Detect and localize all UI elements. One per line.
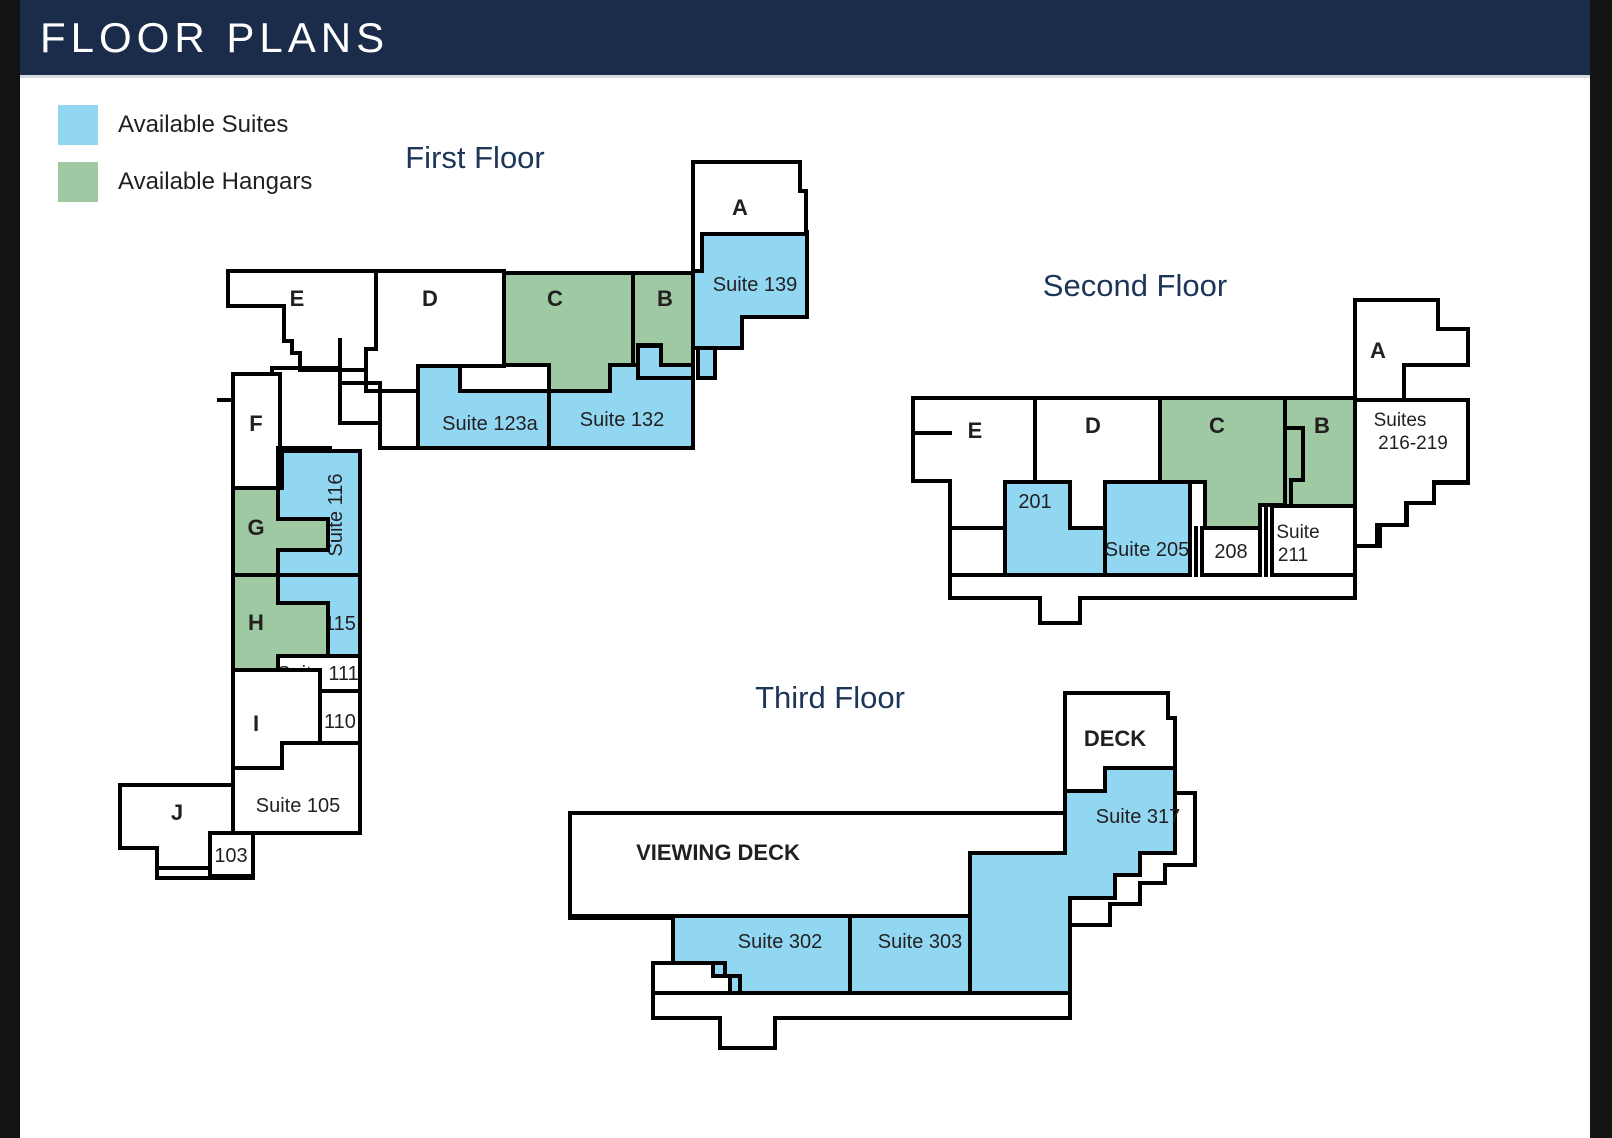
room-label-hangar-f: F <box>249 411 262 436</box>
floor-plans-canvas: First Floor Suite 139 A B C D E <box>20 78 1590 1138</box>
room-label-suite-103: 103 <box>214 845 247 867</box>
room-label-suites-216-219-line2: 216-219 <box>1378 433 1448 454</box>
room-label-suite-139: Suite 139 <box>713 274 798 296</box>
room-label-second-211-line2: 211 <box>1278 545 1308 566</box>
room-label-second-c: C <box>1209 413 1225 438</box>
room-label-deck: DECK <box>1084 726 1146 751</box>
room-label-hangar-d: D <box>422 286 438 311</box>
page-title: FLOOR PLANS <box>40 17 389 59</box>
room-label-suite-317: Suite 317 <box>1096 806 1181 828</box>
floor-plan-third-floor[interactable]: Third Floor DECK Suite 317 VIEWING DECK … <box>570 680 1195 1048</box>
room-label-hangar-a: A <box>732 195 748 220</box>
room-label-second-201: 201 <box>1018 491 1051 513</box>
room-third-floor-suite-317[interactable] <box>970 768 1175 993</box>
room-label-suite-123a: Suite 123a <box>442 413 539 435</box>
first-floor-title: First Floor <box>405 140 545 175</box>
wall-second-bottom <box>950 575 1355 623</box>
room-label-hangar-h: H <box>248 610 264 635</box>
room-label-hangar-i: I <box>253 711 259 736</box>
page-root: FLOOR PLANS Available Suites Available H… <box>20 0 1590 1138</box>
room-label-viewing-deck: VIEWING DECK <box>636 840 800 865</box>
room-label-suite-302: Suite 302 <box>738 931 823 953</box>
room-label-second-a: A <box>1370 338 1386 363</box>
page-header: FLOOR PLANS <box>20 0 1590 78</box>
third-floor-title: Third Floor <box>755 680 905 715</box>
room-label-hangar-c: C <box>547 286 563 311</box>
room-label-second-d: D <box>1085 413 1101 438</box>
room-label-suite-132: Suite 132 <box>580 409 665 431</box>
room-label-suite-110: 110 <box>324 711 356 733</box>
room-first-floor-suite-116-body[interactable] <box>278 451 360 575</box>
room-label-hangar-b: B <box>657 286 673 311</box>
floor-plan-second-floor[interactable]: Second Floor A Suites 216-219 B C D E <box>913 268 1468 623</box>
room-label-second-e: E <box>968 418 983 443</box>
room-label-second-211-line1: Suite <box>1276 522 1319 543</box>
room-label-suites-216-219-line1: Suites <box>1374 410 1427 431</box>
room-label-second-b: B <box>1314 413 1330 438</box>
wall-third-notch <box>653 963 740 993</box>
room-label-suite-105: Suite 105 <box>256 795 341 817</box>
room-label-second-205: Suite 205 <box>1105 539 1190 561</box>
room-second-floor-suite-205-body[interactable] <box>1105 482 1190 575</box>
wall-second-left-corridor <box>950 528 1005 575</box>
room-label-second-208: 208 <box>1214 541 1247 563</box>
floor-plan-first-floor[interactable]: First Floor Suite 139 A B C D E <box>120 140 807 878</box>
room-third-floor-suite-302-body[interactable] <box>673 916 850 993</box>
room-label-hangar-e: E <box>290 286 305 311</box>
room-first-floor-suite-123a[interactable] <box>418 366 549 448</box>
second-floor-title: Second Floor <box>1043 268 1227 303</box>
room-label-hangar-j: J <box>171 800 183 825</box>
room-label-suite-303: Suite 303 <box>878 931 963 953</box>
room-third-floor-suite-303[interactable] <box>850 916 970 993</box>
room-label-hangar-g: G <box>247 515 264 540</box>
